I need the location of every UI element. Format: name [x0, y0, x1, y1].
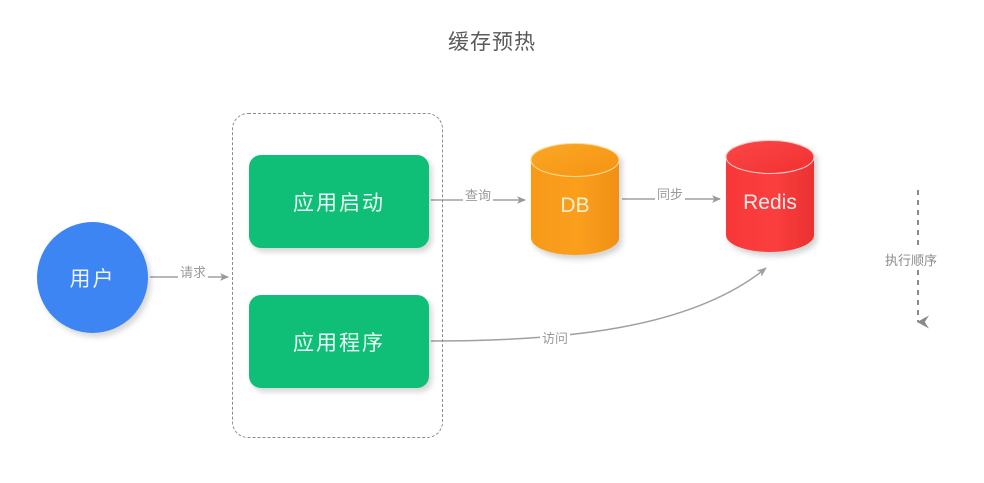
node-user[interactable]: 用户: [37, 222, 148, 333]
db-cylinder-icon: [530, 143, 620, 255]
node-app-program[interactable]: 应用程序: [249, 295, 429, 388]
edge-label-access: 访问: [540, 328, 570, 347]
edge-label-query: 查询: [463, 185, 493, 204]
node-user-label: 用户: [70, 263, 116, 293]
node-app-program-label: 应用程序: [293, 327, 385, 357]
page-title: 缓存预热: [0, 26, 984, 56]
redis-cylinder-icon: [725, 140, 815, 252]
node-db[interactable]: DB: [530, 143, 620, 255]
node-redis[interactable]: Redis: [725, 140, 815, 252]
connector-layer: [0, 0, 984, 483]
edge-label-request: 请求: [178, 262, 208, 281]
execution-order-label: 执行顺序: [883, 249, 939, 270]
node-app-start-label: 应用启动: [293, 187, 385, 217]
edge-label-sync: 同步: [655, 184, 685, 203]
node-app-start[interactable]: 应用启动: [249, 155, 429, 248]
edge-appprog-to-redis: [431, 268, 766, 341]
diagram-canvas: 缓存预热 用户 应用启动 应用程序 DB Redis 请求 查询: [0, 0, 984, 483]
